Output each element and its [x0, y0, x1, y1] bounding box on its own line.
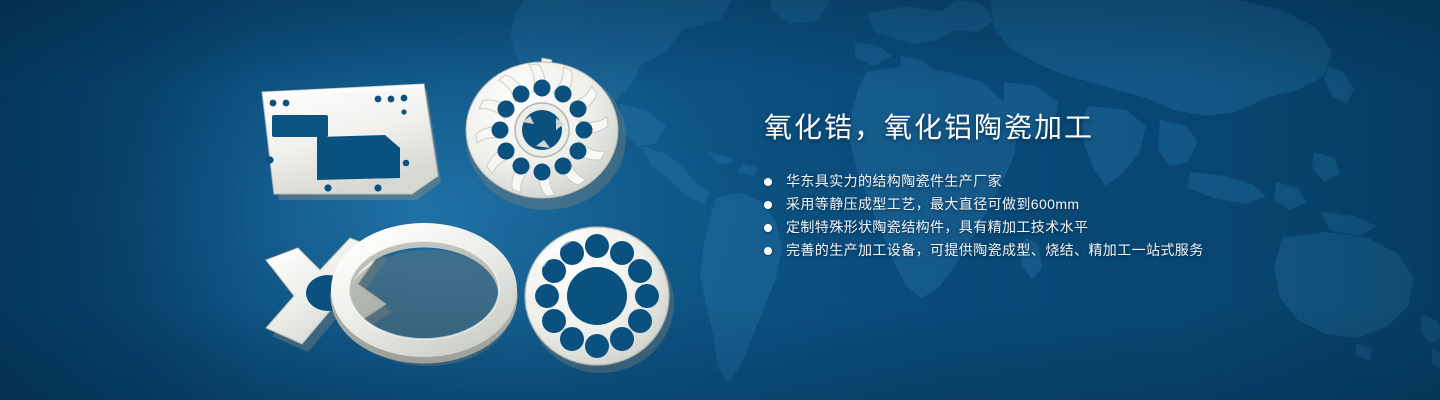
- feature-text: 完善的生产加工设备，可提供陶瓷成型、烧结、精加工一站式服务: [786, 239, 1204, 262]
- feature-text: 采用等静压成型工艺，最大直径可做到600mm: [786, 193, 1079, 216]
- list-item: 完善的生产加工设备，可提供陶瓷成型、烧结、精加工一站式服务: [764, 239, 1404, 262]
- ceramic-perforated-disc-part: [525, 227, 674, 373]
- ceramic-ring-part: [340, 232, 512, 366]
- feature-text: 华东具实力的结构陶瓷件生产厂家: [786, 170, 1002, 193]
- list-item: 华东具实力的结构陶瓷件生产厂家: [764, 170, 1404, 193]
- product-image-group: [0, 0, 740, 400]
- list-item: 定制特殊形状陶瓷结构件，具有精加工技术水平: [764, 216, 1404, 239]
- banner-copy: 氧化锆，氧化铝陶瓷加工 华东具实力的结构陶瓷件生产厂家 采用等静压成型工艺，最大…: [764, 108, 1404, 262]
- feature-text: 定制特殊形状陶瓷结构件，具有精加工技术水平: [786, 216, 1088, 239]
- bullet-dot-icon: [764, 201, 772, 209]
- ceramic-impeller-part: [466, 58, 626, 210]
- ceramic-plate-part: [262, 84, 441, 200]
- hero-banner: 氧化锆，氧化铝陶瓷加工 华东具实力的结构陶瓷件生产厂家 采用等静压成型工艺，最大…: [0, 0, 1440, 400]
- bullet-dot-icon: [764, 178, 772, 186]
- list-item: 采用等静压成型工艺，最大直径可做到600mm: [764, 193, 1404, 216]
- bullet-dot-icon: [764, 247, 772, 255]
- page-title: 氧化锆，氧化铝陶瓷加工: [764, 108, 1404, 148]
- bullet-dot-icon: [764, 224, 772, 232]
- feature-list: 华东具实力的结构陶瓷件生产厂家 采用等静压成型工艺，最大直径可做到600mm 定…: [764, 170, 1404, 262]
